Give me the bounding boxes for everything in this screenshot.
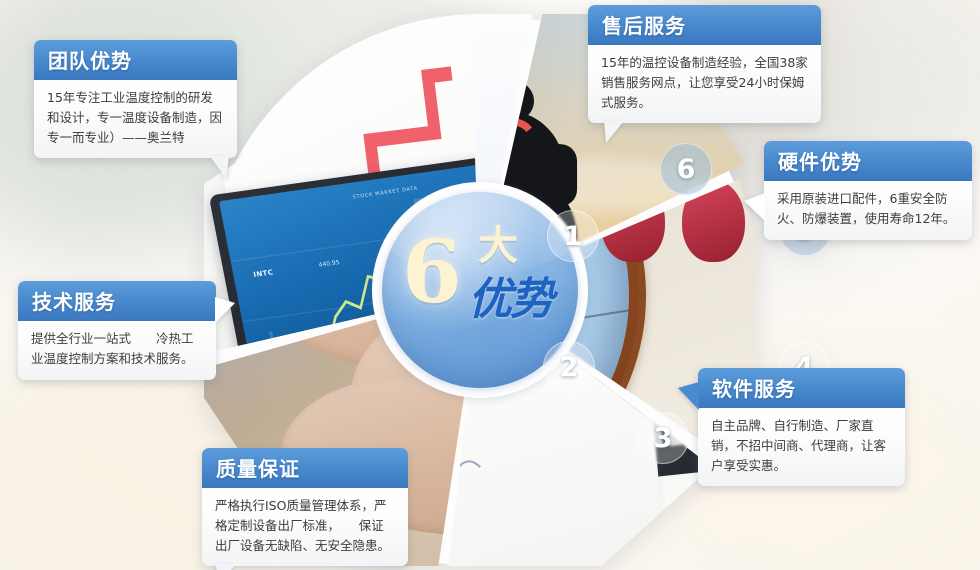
- callout-software-service[interactable]: 软件服务 自主品牌、自行制造、厂家直销，不招中间商、代理商，让客户享受实惠。: [698, 368, 905, 486]
- badge-2[interactable]: 2: [543, 341, 595, 393]
- callout-technical-service[interactable]: 技术服务 提供全行业一站式 冷热工业温度控制方案和技术服务。: [18, 281, 216, 380]
- callout-quality-assurance[interactable]: 质量保证 严格执行ISO质量管理体系，严格定制设备出厂标准， 保证出厂设备无缺陷…: [202, 448, 408, 566]
- callout-body: 15年专注工业温度控制的研发和设计，专一温度设备制造，因专一而专业）——奥兰特: [34, 80, 237, 158]
- callout-title: 硬件优势: [764, 141, 972, 181]
- callout-tail: [215, 297, 235, 323]
- callout-body: 15年的温控设备制造经验，全国38家销售服务网点，让您享受24小时保姆式服务。: [588, 45, 821, 123]
- callout-title: 技术服务: [18, 281, 216, 321]
- callout-tail: [678, 382, 699, 410]
- callout-tail: [216, 564, 236, 570]
- callout-team-advantage[interactable]: 团队优势 15年专注工业温度控制的研发和设计，专一温度设备制造，因专一而专业）—…: [34, 40, 237, 158]
- callout-title: 质量保证: [202, 448, 408, 488]
- callout-body: 提供全行业一站式 冷热工业温度控制方案和技术服务。: [18, 321, 216, 380]
- center-advantage-text: 优势: [468, 278, 552, 322]
- callout-title: 售后服务: [588, 5, 821, 45]
- badge-6[interactable]: 6: [660, 143, 712, 195]
- callout-body: 采用原装进口配件，6重安全防火、防爆装置，使用寿命12年。: [764, 181, 972, 240]
- callout-body: 严格执行ISO质量管理体系，严格定制设备出厂标准， 保证出厂设备无缺陷、无安全隐…: [202, 488, 408, 566]
- callout-after-sales[interactable]: 售后服务 15年的温控设备制造经验，全国38家销售服务网点，让您享受24小时保姆…: [588, 5, 821, 123]
- callout-body: 自主品牌、自行制造、厂家直销，不招中间商、代理商，让客户享受实惠。: [698, 408, 905, 486]
- callout-tail: [210, 156, 229, 179]
- callout-title: 团队优势: [34, 40, 237, 80]
- callout-title: 软件服务: [698, 368, 905, 408]
- badge-1[interactable]: 1: [547, 210, 599, 262]
- center-number: 6: [402, 230, 462, 316]
- callout-tail: [744, 193, 765, 221]
- badge-3[interactable]: 3: [637, 412, 689, 464]
- callout-tail: [604, 121, 624, 143]
- center-da-text: 大: [478, 226, 518, 266]
- callout-hardware-advantage[interactable]: 硬件优势 采用原装进口配件，6重安全防火、防爆装置，使用寿命12年。: [764, 141, 972, 240]
